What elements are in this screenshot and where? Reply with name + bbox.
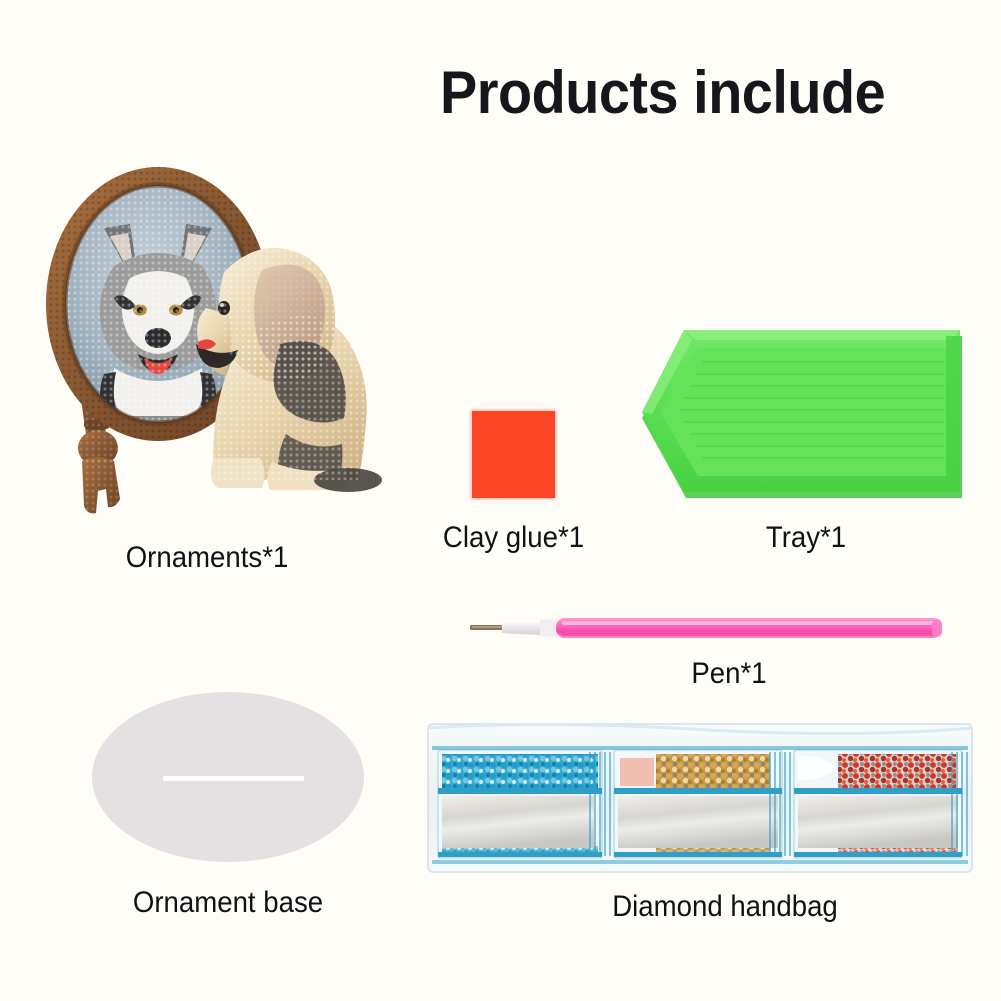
ornament-base-label: Ornament base	[107, 886, 350, 920]
ornaments-image	[18, 158, 388, 524]
diamond-handbag-image	[424, 718, 976, 878]
handbag-bag-red	[794, 750, 962, 858]
handbag-bag-blue	[438, 750, 602, 858]
pen-image	[466, 612, 946, 644]
product-contents-infographic: Products include	[0, 0, 1001, 1001]
pen-label: Pen*1	[642, 657, 817, 691]
ornaments-label: Ornaments*1	[92, 541, 322, 575]
page-title: Products include	[440, 62, 952, 124]
ornament-base-image	[92, 692, 364, 862]
tray-label: Tray*1	[714, 521, 898, 555]
clay-glue-image	[472, 411, 555, 498]
tray-image	[640, 326, 972, 508]
puppy	[196, 248, 382, 492]
ornament-base-slot	[163, 776, 304, 781]
diamond-handbag-label: Diamond handbag	[592, 890, 859, 924]
handbag-bag-gold	[614, 750, 782, 858]
clay-glue-label: Clay glue*1	[419, 521, 608, 555]
